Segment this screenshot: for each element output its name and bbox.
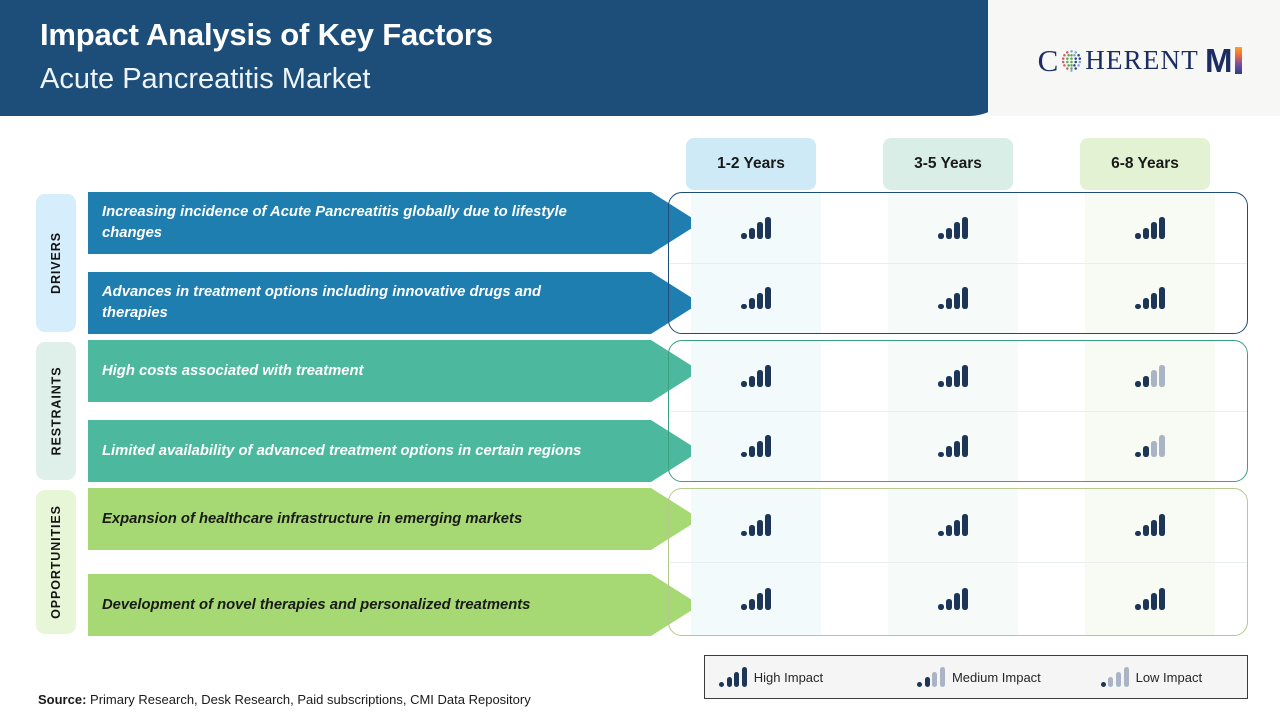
impact-cell-2[interactable] — [888, 412, 1018, 482]
impact-cell-1[interactable] — [691, 193, 821, 263]
logo-gradient-i-bar — [1235, 47, 1242, 74]
arrow-shape: Limited availability of advanced treatme… — [88, 420, 700, 482]
impact-bars-icon — [741, 435, 770, 457]
impact-bars-icon — [741, 514, 770, 536]
page-subtitle: Acute Pancreatitis Market — [40, 58, 493, 100]
arrow-shape: Increasing incidence of Acute Pancreatit… — [88, 192, 700, 254]
impact-cell-2[interactable] — [888, 341, 1018, 411]
legend-label: Low Impact — [1136, 670, 1202, 685]
legend-item-2: Medium Impact — [917, 667, 1041, 687]
column-header-label: 3-5 Years — [914, 155, 982, 173]
category-tab-opportunities[interactable]: OPPORTUNITIES — [36, 490, 76, 634]
impact-cell-2[interactable] — [888, 193, 1018, 263]
impact-matrix-area — [668, 340, 1248, 482]
factor-arrow-row[interactable]: Limited availability of advanced treatme… — [88, 420, 700, 482]
infographic-page: Impact Analysis of Key Factors Acute Pan… — [0, 0, 1280, 720]
arrow-shape: Advances in treatment options including … — [88, 272, 700, 334]
impact-bars-icon — [741, 588, 770, 610]
impact-bars-icon — [938, 365, 967, 387]
source-text: Primary Research, Desk Research, Paid su… — [86, 692, 530, 707]
impact-rows — [669, 193, 1247, 333]
category-tab-label: OPPORTUNITIES — [49, 505, 63, 619]
column-header-2[interactable]: 3-5 Years — [883, 138, 1013, 190]
factor-arrow-row[interactable]: Advances in treatment options including … — [88, 272, 700, 334]
logo-text-herent: HERENT — [1085, 47, 1199, 74]
source-label: Source: — [38, 692, 86, 707]
impact-cell-3[interactable] — [1085, 412, 1215, 482]
arrow-shape: Development of novel therapies and perso… — [88, 574, 700, 636]
impact-bars-icon — [741, 365, 770, 387]
factor-arrow-list: High costs associated with treatmentLimi… — [88, 340, 700, 482]
impact-row — [669, 411, 1247, 482]
factor-text: Limited availability of advanced treatme… — [88, 441, 595, 462]
impact-row — [669, 489, 1247, 562]
factor-text: High costs associated with treatment — [88, 361, 377, 382]
factor-arrow-list: Expansion of healthcare infrastructure i… — [88, 488, 700, 636]
impact-bars-icon — [938, 435, 967, 457]
impact-bars-icon — [1135, 588, 1164, 610]
impact-bars-icon — [938, 217, 967, 239]
column-header-label: 1-2 Years — [717, 155, 785, 173]
logo-text-m: M — [1205, 44, 1243, 77]
legend-item-1: High Impact — [719, 667, 823, 687]
page-header: Impact Analysis of Key Factors Acute Pan… — [0, 0, 1280, 116]
impact-bars-icon — [1135, 514, 1164, 536]
impact-cell-3[interactable] — [1085, 264, 1215, 334]
impact-row — [669, 193, 1247, 263]
impact-bars-icon — [938, 514, 967, 536]
logo-letter-c: C — [1038, 45, 1059, 76]
impact-cell-2[interactable] — [888, 489, 1018, 562]
impact-bars-icon — [1135, 287, 1164, 309]
page-title: Impact Analysis of Key Factors — [40, 12, 493, 58]
globe-dot-sphere-icon — [1059, 48, 1084, 73]
impact-bars-icon — [938, 588, 967, 610]
impact-cell-3[interactable] — [1085, 563, 1215, 636]
legend-bars-icon — [1101, 667, 1129, 687]
section-opportunities: OPPORTUNITIESExpansion of healthcare inf… — [36, 488, 1248, 636]
impact-bars-icon — [1135, 435, 1164, 457]
column-header-3[interactable]: 6-8 Years — [1080, 138, 1210, 190]
category-tab-label: DRIVERS — [49, 232, 63, 294]
factor-text: Advances in treatment options including … — [88, 282, 618, 324]
factor-text: Increasing incidence of Acute Pancreatit… — [88, 202, 618, 244]
legend-label: High Impact — [754, 670, 823, 685]
impact-matrix-area — [668, 192, 1248, 334]
section-restraints: RESTRAINTSHigh costs associated with tre… — [36, 340, 1248, 482]
legend-bars-icon — [917, 667, 945, 687]
arrow-shape: High costs associated with treatment — [88, 340, 700, 402]
column-header-1[interactable]: 1-2 Years — [686, 138, 816, 190]
impact-cell-1[interactable] — [691, 341, 821, 411]
factor-arrow-row[interactable]: Development of novel therapies and perso… — [88, 574, 700, 636]
impact-cell-3[interactable] — [1085, 193, 1215, 263]
column-header-label: 6-8 Years — [1111, 155, 1179, 173]
impact-cell-1[interactable] — [691, 489, 821, 562]
factor-text: Development of novel therapies and perso… — [88, 595, 544, 616]
impact-cell-3[interactable] — [1085, 489, 1215, 562]
impact-cell-3[interactable] — [1085, 341, 1215, 411]
factor-arrow-row[interactable]: High costs associated with treatment — [88, 340, 700, 402]
category-tab-label: RESTRAINTS — [49, 367, 63, 456]
impact-bars-icon — [741, 217, 770, 239]
legend-bars-icon — [719, 667, 747, 687]
factor-arrow-list: Increasing incidence of Acute Pancreatit… — [88, 192, 700, 334]
impact-cell-2[interactable] — [888, 264, 1018, 334]
factor-text: Expansion of healthcare infrastructure i… — [88, 509, 536, 530]
impact-cell-1[interactable] — [691, 412, 821, 482]
impact-rows — [669, 341, 1247, 481]
legend-label: Medium Impact — [952, 670, 1041, 685]
impact-row — [669, 263, 1247, 334]
factor-arrow-row[interactable]: Expansion of healthcare infrastructure i… — [88, 488, 700, 550]
factor-arrow-row[interactable]: Increasing incidence of Acute Pancreatit… — [88, 192, 700, 254]
impact-bars-icon — [938, 287, 967, 309]
source-note: Source: Primary Research, Desk Research,… — [38, 692, 531, 707]
section-drivers: DRIVERSIncreasing incidence of Acute Pan… — [36, 192, 1248, 334]
impact-legend: High ImpactMedium ImpactLow Impact — [704, 655, 1248, 699]
category-tab-drivers[interactable]: DRIVERS — [36, 194, 76, 332]
legend-item-3: Low Impact — [1101, 667, 1202, 687]
impact-bars-icon — [741, 287, 770, 309]
impact-row — [669, 341, 1247, 411]
impact-bars-icon — [1135, 217, 1164, 239]
header-text-block: Impact Analysis of Key Factors Acute Pan… — [40, 12, 493, 100]
impact-cell-1[interactable] — [691, 563, 821, 636]
impact-bars-icon — [1135, 365, 1164, 387]
impact-cell-1[interactable] — [691, 264, 821, 334]
arrow-shape: Expansion of healthcare infrastructure i… — [88, 488, 700, 550]
brand-logo[interactable]: C — [988, 0, 1280, 116]
impact-row — [669, 562, 1247, 636]
timeframe-column-headers: 1-2 Years3-5 Years6-8 Years — [686, 138, 1214, 190]
category-tab-restraints[interactable]: RESTRAINTS — [36, 342, 76, 480]
impact-matrix-area — [668, 488, 1248, 636]
impact-cell-2[interactable] — [888, 563, 1018, 636]
impact-rows — [669, 489, 1247, 635]
logo-m-letter: M — [1205, 44, 1233, 77]
